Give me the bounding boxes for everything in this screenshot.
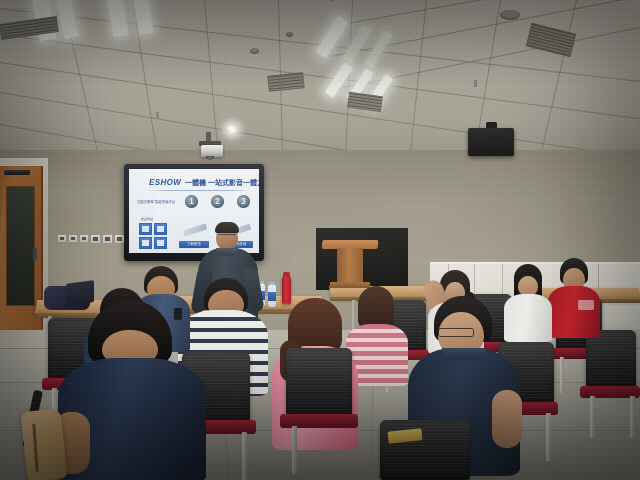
smoke-detector: [500, 10, 520, 20]
polo-collar: [442, 348, 486, 360]
classroom-photo-scene: ESHOW 一體機 一站式影音一體方案 互動式教學 智能會議平台 1 2 3 產…: [0, 0, 640, 480]
wall-outlet[interactable]: [102, 234, 113, 244]
wall-outlet[interactable]: [79, 234, 89, 243]
video-tile: [139, 237, 152, 249]
chair-legs: [546, 413, 551, 461]
red-shirt-attendee: [548, 258, 600, 334]
chair-legs: [590, 396, 595, 438]
door-glass-panel: [6, 186, 35, 306]
media-tile: [154, 237, 167, 249]
podium-body: [337, 248, 363, 284]
attendee-torso: [548, 286, 600, 338]
chair[interactable]: [286, 348, 352, 416]
attendee-arm: [492, 390, 522, 448]
shoulder-bag[interactable]: [20, 408, 67, 480]
smoke-detector: [250, 48, 259, 54]
presenter-glasses: [218, 234, 236, 238]
chair-legs: [242, 432, 247, 480]
slide-title-row: ESHOW 一體機 一站式影音一體方案: [149, 178, 257, 189]
wall-outlet[interactable]: [68, 234, 78, 243]
slide-step-1: 1: [185, 195, 198, 208]
presenter-hair: [215, 222, 239, 233]
sprinkler-head: [474, 80, 477, 87]
chair[interactable]: [586, 330, 636, 388]
sprinkler-head: [156, 112, 159, 118]
document-tile: [154, 223, 167, 235]
door-handle[interactable]: [33, 248, 37, 260]
navy-shirt-attendee: [58, 300, 208, 480]
door-closer: [4, 170, 30, 175]
chair-legs: [560, 357, 564, 393]
slide-headline: 一體機 一站式影音一體方案: [185, 179, 259, 188]
wall-speaker: [468, 128, 514, 156]
slide-section-label: 產品特點: [141, 217, 153, 221]
smoke-detector: [286, 32, 293, 37]
glasses-icon: [438, 328, 474, 337]
slide-title-rule: [147, 190, 251, 191]
slide-step-2: 2: [211, 195, 224, 208]
wall-outlet[interactable]: [90, 234, 101, 244]
attendee-head: [518, 276, 538, 296]
slide-subheadline: 互動式教學 智能會議平台: [137, 199, 175, 204]
shirt-graphic: [578, 300, 594, 310]
chair-legs: [630, 396, 635, 438]
chair-legs: [292, 426, 297, 474]
display-tile: [139, 223, 152, 235]
slide-step-3: 3: [237, 195, 250, 208]
recessed-downlight: [229, 128, 236, 133]
chair[interactable]: [380, 420, 470, 480]
slide-brand: ESHOW: [149, 178, 181, 188]
wall-outlet[interactable]: [57, 234, 67, 243]
